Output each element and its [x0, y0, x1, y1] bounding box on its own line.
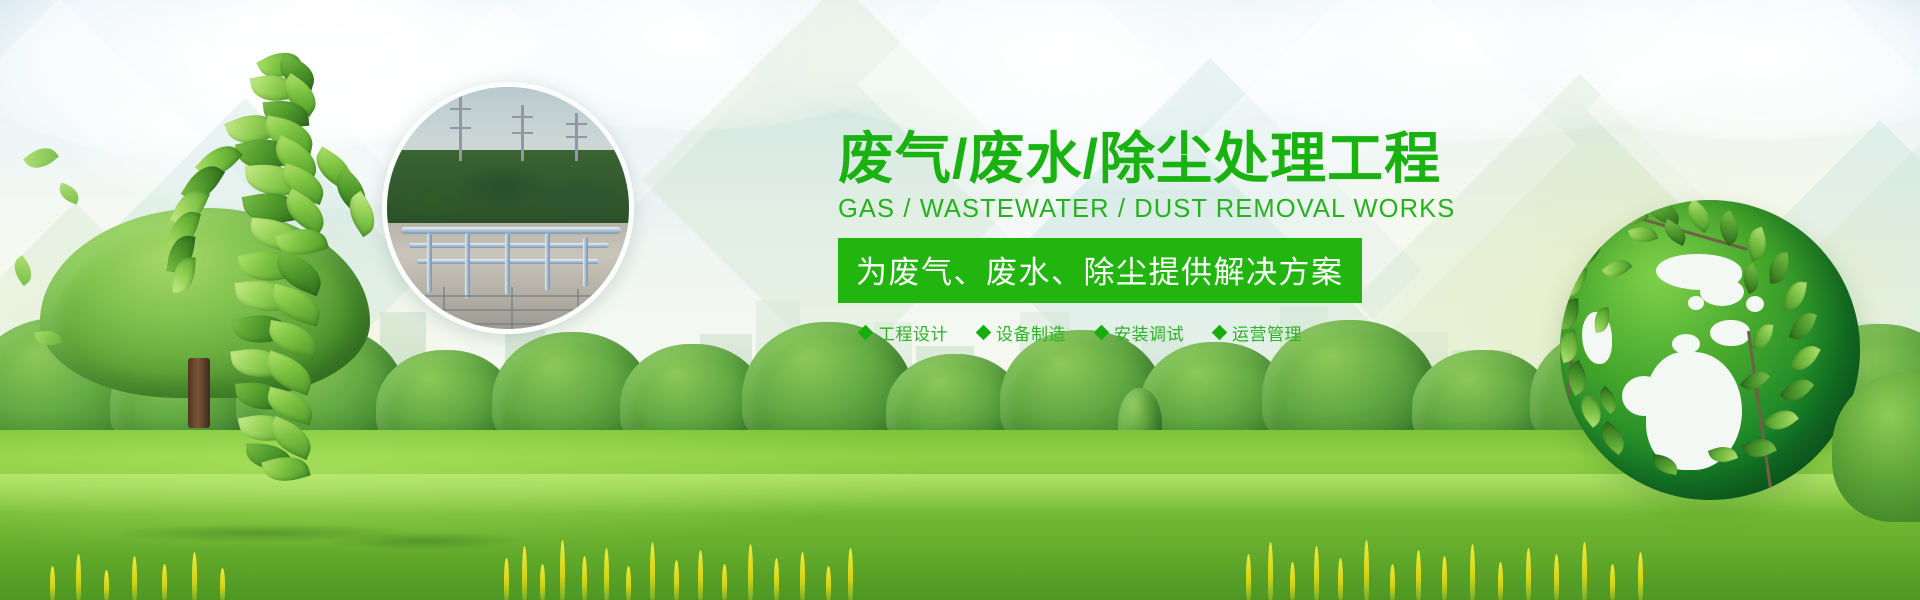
power-tower-icon: [575, 113, 578, 161]
wastewater-plant-photo: [382, 82, 634, 334]
eco-engineering-banner: 废气/废水/除尘处理工程 GAS / WASTEWATER / DUST REM…: [0, 0, 1920, 600]
flower-clump: [1240, 526, 1660, 600]
green-leaf-globe: [1560, 200, 1860, 500]
diamond-bullet-icon: [1094, 325, 1110, 341]
diamond-bullet-icon: [858, 325, 874, 341]
page-title: 废气/废水/除尘处理工程: [838, 130, 1478, 187]
feature-item-design: 工程设计: [860, 320, 948, 345]
diamond-bullet-icon: [1212, 325, 1228, 341]
diamond-bullet-icon: [976, 325, 992, 341]
feature-label: 工程设计: [878, 320, 948, 345]
feature-label: 设备制造: [996, 320, 1066, 345]
leaf-man-figure: [152, 52, 382, 482]
tagline-banner: 为废气、废水、除尘提供解决方案: [838, 238, 1362, 303]
feature-list: 工程设计 设备制造 安装调试 运营管理: [838, 320, 1478, 345]
feature-item-operations: 运营管理: [1214, 320, 1302, 345]
headline-block: 废气/废水/除尘处理工程 GAS / WASTEWATER / DUST REM…: [838, 130, 1478, 345]
flower-clump: [40, 526, 240, 600]
flower-clump: [500, 526, 860, 600]
power-tower-icon: [459, 95, 462, 161]
feature-item-manufacturing: 设备制造: [978, 320, 1066, 345]
feature-item-installation: 安装调试: [1096, 320, 1184, 345]
page-subtitle-english: GAS / WASTEWATER / DUST REMOVAL WORKS: [838, 195, 1478, 224]
feature-label: 运营管理: [1232, 320, 1302, 345]
power-tower-icon: [521, 105, 524, 161]
feature-label: 安装调试: [1114, 320, 1184, 345]
